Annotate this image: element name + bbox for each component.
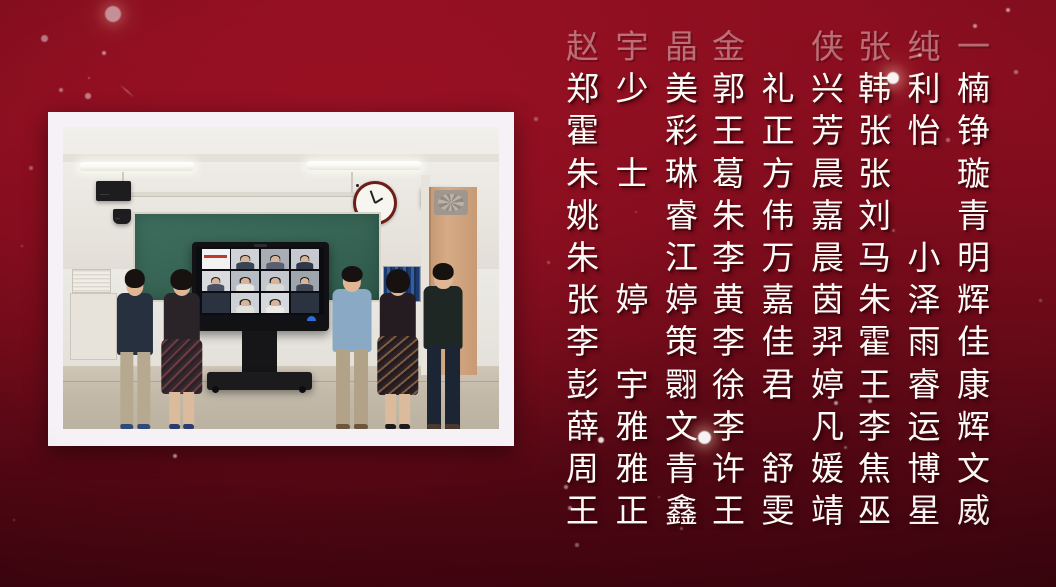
- credit-name: 周雅青: [566, 452, 698, 485]
- credit-name-char: 巫: [858, 494, 891, 527]
- credit-name: 郭礼兴: [712, 72, 844, 105]
- participant-tile: [231, 293, 259, 313]
- credit-name-char: 宇: [616, 368, 649, 401]
- credit-name-char: 璇: [957, 157, 990, 190]
- credit-name-char: 焦: [858, 452, 891, 485]
- credit-name-char: 彩: [665, 114, 698, 147]
- person-skirt: [161, 339, 202, 393]
- participant-tile: [291, 249, 319, 269]
- credit-name-char: 郑: [566, 72, 599, 105]
- ceiling-pipe: [120, 192, 355, 196]
- person-legs: [426, 346, 460, 429]
- person-skirt: [377, 336, 418, 395]
- credit-name-char: 文: [665, 410, 698, 443]
- credit-name-char: 策: [665, 325, 698, 358]
- credit-name: 朱士琳: [566, 157, 698, 190]
- credits-row: 李策李佳羿霍雨佳: [566, 325, 1042, 358]
- credit-name-char: 媛: [811, 452, 844, 485]
- person-shoe: [354, 424, 368, 429]
- person-hair: [433, 263, 454, 280]
- participant-tile: [202, 293, 230, 313]
- credit-name-char: 嘉: [762, 283, 795, 316]
- person-leg: [427, 346, 441, 429]
- participant-tile: [202, 271, 230, 291]
- credits-stage: 赵宇晶金侠张纯一郑少美郭礼兴韩利楠霍彩王正芳张怡铮朱士琳葛方晨张璇姚睿朱伟嘉刘青…: [0, 0, 1056, 587]
- credits-row: 赵宇晶金侠张纯一: [566, 30, 1042, 63]
- credit-name-char: 婷: [811, 368, 844, 401]
- credit-name-char: 晶: [665, 30, 698, 63]
- credit-name-char: 星: [908, 494, 941, 527]
- participant-tile: [202, 249, 230, 269]
- credit-name: 张婷婷: [566, 283, 698, 316]
- credit-name: 王正鑫: [566, 494, 698, 527]
- person-leg: [445, 346, 459, 429]
- credit-name-char: 宇: [616, 30, 649, 63]
- bokeh-particle: [13, 519, 16, 522]
- credit-name-char: 兴: [811, 72, 844, 105]
- person-legs: [119, 352, 150, 429]
- person-hair: [170, 269, 193, 290]
- person-leg: [385, 394, 396, 429]
- participant-tile: [261, 249, 289, 269]
- credit-name-char: 正: [616, 494, 649, 527]
- credit-name-char: 婷: [616, 283, 649, 316]
- credit-name-char: 万: [762, 241, 795, 274]
- person-hair: [125, 269, 145, 288]
- bokeh-particle: [173, 454, 177, 458]
- credit-name-char: 姚: [566, 199, 599, 232]
- credit-name: 郑少美: [566, 72, 698, 105]
- light-streak: [120, 84, 135, 98]
- credit-name: 霍雨佳: [858, 325, 990, 358]
- participant-tile: [261, 293, 289, 313]
- credit-name-char: 青: [665, 452, 698, 485]
- credits-row: 王正鑫王雯靖巫星威: [566, 494, 1042, 527]
- credit-name-char: 黄: [712, 283, 745, 316]
- credit-name: 霍彩: [566, 114, 698, 147]
- credit-name-char: 李: [712, 410, 745, 443]
- person-leg: [336, 349, 350, 429]
- credit-name-char: 晨: [811, 241, 844, 274]
- person-leg: [137, 352, 150, 429]
- credit-name-char: 雨: [908, 325, 941, 358]
- credit-name-char: 葛: [712, 157, 745, 190]
- stand-caster: [212, 386, 219, 393]
- credit-name-char: 江: [665, 241, 698, 274]
- credit-name-char: 李: [858, 410, 891, 443]
- credit-name-char: 青: [957, 199, 990, 232]
- credit-name-char: 晨: [811, 157, 844, 190]
- credit-name-char: 威: [957, 494, 990, 527]
- credits-row: 张婷婷黄嘉茵朱泽辉: [566, 283, 1042, 316]
- credit-name-char: 明: [957, 241, 990, 274]
- credit-name: 李策: [566, 325, 698, 358]
- person-shoe: [385, 424, 396, 429]
- person-hair: [341, 266, 362, 282]
- credit-name-char: 彭: [566, 368, 599, 401]
- credit-name: 王睿康: [858, 368, 990, 401]
- credit-name: 姚睿: [566, 199, 698, 232]
- credit-name-char: 睿: [665, 199, 698, 232]
- person-shoe: [137, 424, 150, 429]
- credit-name-char: 雯: [762, 494, 795, 527]
- credit-name-char: 张: [858, 114, 891, 147]
- credit-name-char: 雅: [616, 410, 649, 443]
- credits-row: 薛雅文李凡李运辉: [566, 410, 1042, 443]
- credit-name-char: 纯: [908, 30, 941, 63]
- credit-name-char: 李: [712, 325, 745, 358]
- person-torso: [117, 293, 153, 355]
- credit-name-char: 王: [566, 494, 599, 527]
- person-legs: [335, 349, 369, 429]
- credit-name-char: 刘: [858, 199, 891, 232]
- credit-name-char: 鑫: [665, 494, 698, 527]
- interactive-display-panel[interactable]: [192, 242, 329, 331]
- person-torso: [379, 293, 415, 341]
- credit-name: 李凡: [712, 410, 844, 443]
- credits-name-list: 赵宇晶金侠张纯一郑少美郭礼兴韩利楠霍彩王正芳张怡铮朱士琳葛方晨张璇姚睿朱伟嘉刘青…: [566, 0, 1042, 587]
- bokeh-particle: [534, 117, 537, 120]
- wall-speaker-left: [96, 181, 131, 201]
- credit-name-char: 礼: [762, 72, 795, 105]
- credit-name-char: 博: [908, 452, 941, 485]
- credit-name-char: 李: [712, 241, 745, 274]
- credit-name: 葛方晨: [712, 157, 844, 190]
- credit-name-char: 徐: [712, 368, 745, 401]
- credit-name-char: 佳: [957, 325, 990, 358]
- credit-name-char: 张: [858, 30, 891, 63]
- credit-name-char: 少: [616, 72, 649, 105]
- bokeh-particle: [88, 77, 90, 79]
- credit-name-char: 辉: [957, 283, 990, 316]
- credit-name: 马小明: [858, 241, 990, 274]
- credit-name: 朱泽辉: [858, 283, 990, 316]
- person-1: [115, 269, 154, 429]
- credit-name-char: 薛: [566, 410, 599, 443]
- credit-name-char: 翾: [665, 368, 698, 401]
- bokeh-particle: [29, 166, 32, 169]
- bokeh-particle: [41, 35, 48, 42]
- person-shoe: [427, 424, 441, 429]
- ceiling-beam: [63, 154, 499, 162]
- person-shoe: [336, 424, 350, 429]
- credit-name-char: 朱: [858, 283, 891, 316]
- ac-vent: [72, 269, 111, 293]
- credit-name: 刘青: [858, 199, 990, 232]
- credit-name: 王正芳: [712, 114, 844, 147]
- person-torso: [332, 289, 371, 353]
- credit-name-char: 辉: [957, 410, 990, 443]
- credit-name-char: 舒: [762, 452, 795, 485]
- display-toolbar-button[interactable]: [307, 316, 316, 321]
- credit-name-char: 侠: [811, 30, 844, 63]
- credit-name: 张怡铮: [858, 114, 990, 147]
- credit-name-char: 张: [858, 157, 891, 190]
- credit-name-char: 嘉: [811, 199, 844, 232]
- person-shoe: [445, 424, 459, 429]
- person-3: [331, 266, 372, 429]
- credits-row: 朱士琳葛方晨张璇: [566, 157, 1042, 190]
- stand-caster: [299, 386, 306, 393]
- person-legs: [169, 392, 195, 429]
- wall-sensor: [113, 209, 130, 224]
- credits-row: 朱江李万晨马小明: [566, 241, 1042, 274]
- credit-name-char: 羿: [811, 325, 844, 358]
- clock-minute-hand: [370, 191, 376, 204]
- bokeh-particle: [102, 51, 106, 55]
- credit-name: 李佳羿: [712, 325, 844, 358]
- person-leg: [354, 349, 368, 429]
- credit-name: 薛雅文: [566, 410, 698, 443]
- credit-name-char: 霍: [566, 114, 599, 147]
- participant-tile: [291, 271, 319, 291]
- person-shoe: [399, 424, 410, 429]
- person-shoe: [120, 424, 133, 429]
- bokeh-particle: [547, 261, 550, 264]
- participant-tile: [261, 271, 289, 291]
- person-leg: [183, 392, 194, 429]
- credit-name-char: 楠: [957, 72, 990, 105]
- credits-row: 周雅青许舒媛焦博文: [566, 452, 1042, 485]
- credit-name: 金侠: [712, 30, 844, 63]
- person-hair: [386, 269, 410, 293]
- credit-name-char: 王: [712, 494, 745, 527]
- credit-name: 李运辉: [858, 410, 990, 443]
- credit-name-char: 康: [957, 368, 990, 401]
- credit-name-char: 赵: [566, 30, 599, 63]
- person-shoe: [169, 424, 180, 429]
- person-leg: [169, 392, 180, 429]
- person-leg: [399, 394, 410, 429]
- credit-name-char: 张: [566, 283, 599, 316]
- credit-name-char: 君: [762, 368, 795, 401]
- ceiling-light-right: [307, 161, 420, 170]
- credit-name: 许舒媛: [712, 452, 844, 485]
- clock-hour-hand: [374, 198, 383, 204]
- credit-name-char: 靖: [811, 494, 844, 527]
- person-4: [377, 269, 418, 429]
- credit-name-char: 雅: [616, 452, 649, 485]
- credit-name-char: 周: [566, 452, 599, 485]
- credit-name-char: 佳: [762, 325, 795, 358]
- person-torso: [424, 286, 463, 349]
- person-shoe: [183, 424, 194, 429]
- credit-name-char: 许: [712, 452, 745, 485]
- wall-fan: [434, 190, 469, 214]
- display-screen: [196, 247, 324, 322]
- group-photo-image: [63, 127, 499, 429]
- credit-name-char: 朱: [566, 241, 599, 274]
- credit-name: 彭宇翾: [566, 368, 698, 401]
- credit-name-char: 金: [712, 30, 745, 63]
- credit-name-char: 泽: [908, 283, 941, 316]
- credit-name: 焦博文: [858, 452, 990, 485]
- credit-name-char: 小: [908, 241, 941, 274]
- credit-name-char: 王: [858, 368, 891, 401]
- credit-name: 张纯一: [858, 30, 990, 63]
- bokeh-particle: [59, 88, 63, 92]
- clock-center-pin: [356, 184, 359, 187]
- credit-name-char: 运: [908, 410, 941, 443]
- pipe-hanger-right: [351, 172, 353, 193]
- credit-name-char: 韩: [858, 72, 891, 105]
- credit-name-char: 凡: [811, 410, 844, 443]
- credit-name: 朱伟嘉: [712, 199, 844, 232]
- credit-name-char: 朱: [566, 157, 599, 190]
- credit-name-char: 怡: [908, 114, 941, 147]
- credit-name-char: 睿: [908, 368, 941, 401]
- credit-name-char: 文: [957, 452, 990, 485]
- person-5: [423, 263, 464, 429]
- credit-name: 黄嘉茵: [712, 283, 844, 316]
- credit-name-char: 李: [566, 325, 599, 358]
- credit-name-char: 郭: [712, 72, 745, 105]
- credit-name-char: 茵: [811, 283, 844, 316]
- display-toolbar: [196, 315, 324, 322]
- credit-name-char: 马: [858, 241, 891, 274]
- video-conference-grid: [202, 249, 319, 313]
- credits-row: 彭宇翾徐君婷王睿康: [566, 368, 1042, 401]
- bokeh-particle: [105, 6, 121, 22]
- credits-row: 霍彩王正芳张怡铮: [566, 114, 1042, 147]
- ceiling-light-left: [80, 162, 193, 171]
- credit-name-char: 美: [665, 72, 698, 105]
- participant-tile: [231, 271, 259, 291]
- credit-name-char: 芳: [811, 114, 844, 147]
- credit-name-char: 琳: [665, 157, 698, 190]
- credit-name-char: 一: [957, 30, 990, 63]
- person-leg: [120, 352, 133, 429]
- credit-name-char: 霍: [858, 325, 891, 358]
- person-2: [161, 269, 202, 429]
- credits-row: 郑少美郭礼兴韩利楠: [566, 72, 1042, 105]
- credit-name: 朱江: [566, 241, 698, 274]
- credit-name-char: 铮: [957, 114, 990, 147]
- credit-name: 徐君婷: [712, 368, 844, 401]
- credit-name: 巫星威: [858, 494, 990, 527]
- display-stand-column: [242, 331, 277, 373]
- credit-name: 赵宇晶: [566, 30, 698, 63]
- bokeh-particle: [85, 93, 90, 98]
- credit-name-char: 正: [762, 114, 795, 147]
- credit-name-char: 婷: [665, 283, 698, 316]
- credit-name-char: 王: [712, 114, 745, 147]
- participant-tile: [291, 293, 319, 313]
- credit-name-char: 利: [908, 72, 941, 105]
- credit-name: 王雯靖: [712, 494, 844, 527]
- group-photo-frame: [48, 112, 514, 446]
- side-cabinet: [70, 293, 118, 359]
- credit-name-char: 伟: [762, 199, 795, 232]
- credit-name: 韩利楠: [858, 72, 990, 105]
- person-torso: [164, 293, 200, 344]
- credit-name-char: 朱: [712, 199, 745, 232]
- credit-name-char: 方: [762, 157, 795, 190]
- credit-name: 李万晨: [712, 241, 844, 274]
- participant-tile: [231, 249, 259, 269]
- display-stand-base: [207, 372, 312, 390]
- credit-name: 张璇: [858, 157, 990, 190]
- credit-name-char: 士: [616, 157, 649, 190]
- bokeh-particle: [21, 245, 24, 248]
- person-legs: [385, 394, 411, 429]
- credits-row: 姚睿朱伟嘉刘青: [566, 199, 1042, 232]
